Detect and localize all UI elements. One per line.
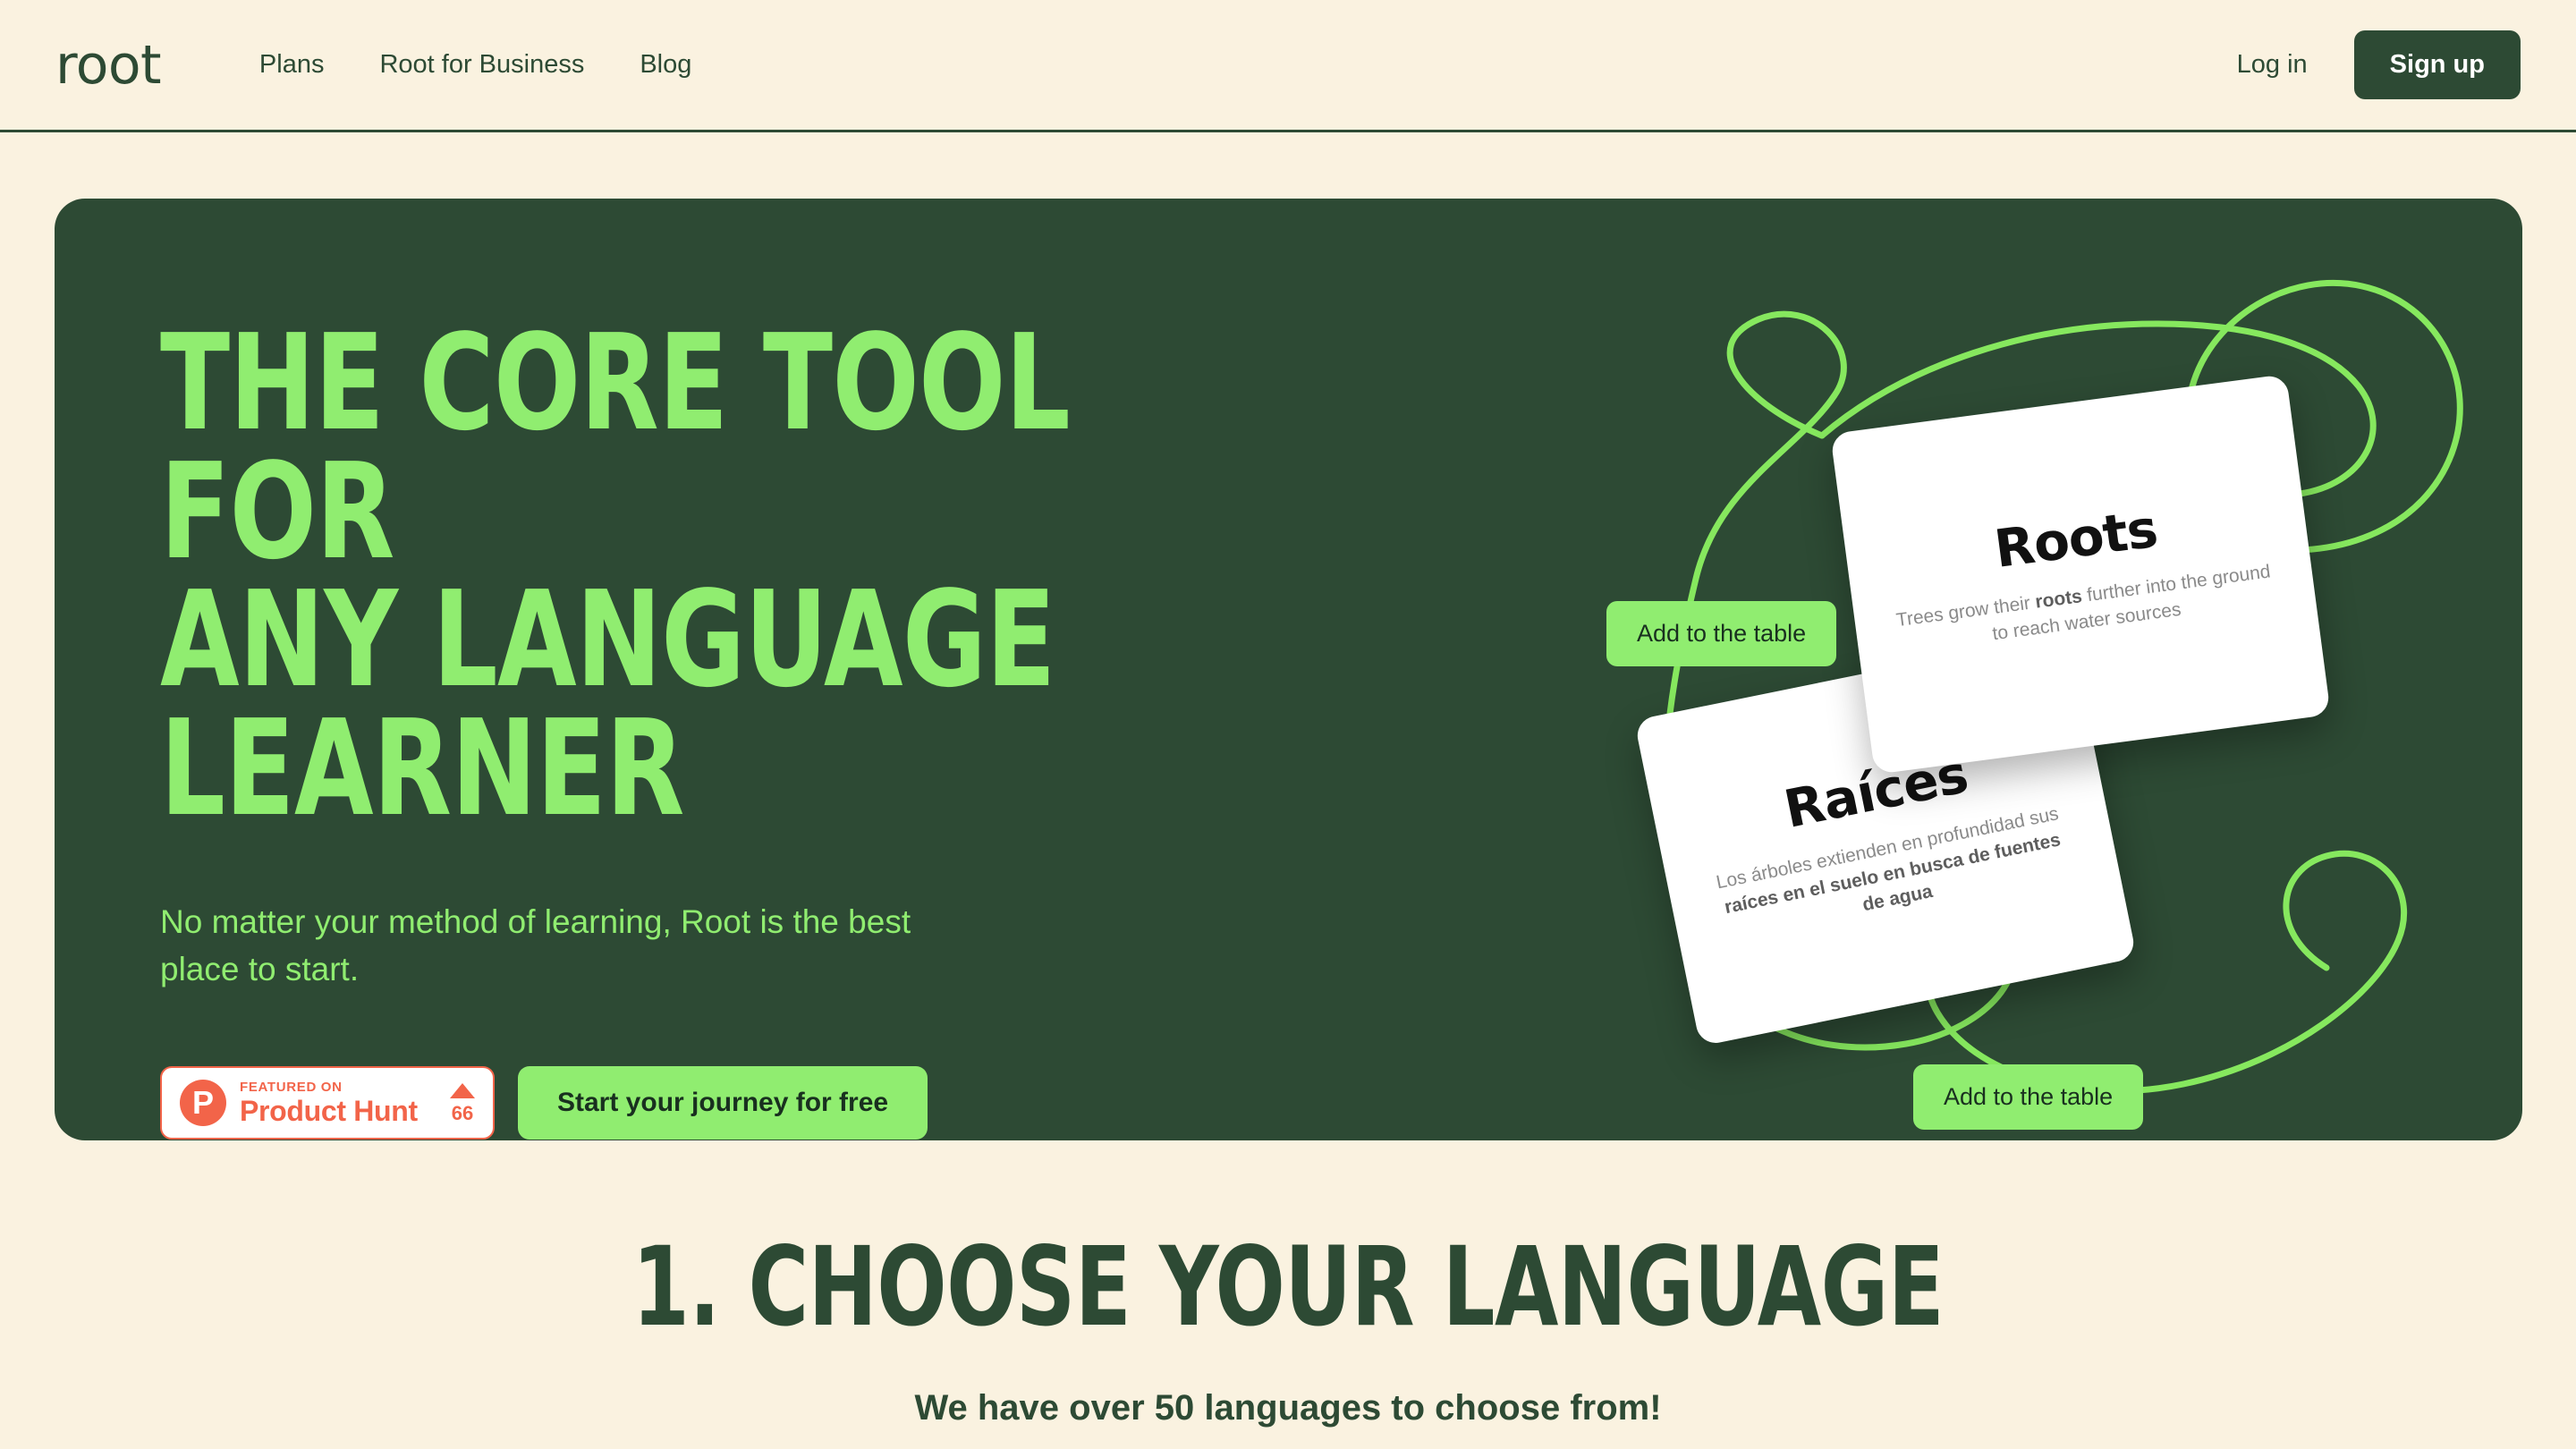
hero-headline: THE CORE TOOL FOR ANY LANGUAGE LEARNER xyxy=(160,319,1122,833)
flashcard-sentence: Los árboles extienden en profundidad sus… xyxy=(1705,800,2080,949)
add-to-table-button-bottom[interactable]: Add to the table xyxy=(1913,1064,2143,1130)
hero-subheadline: No matter your method of learning, Root … xyxy=(160,899,970,993)
hero-cta-row: P FEATURED ON Product Hunt 66 Start your… xyxy=(160,1066,1278,1140)
nav-item-blog[interactable]: Blog xyxy=(640,50,691,80)
flashcard-term: Roots xyxy=(1992,503,2160,575)
upvote-triangle-icon xyxy=(450,1083,475,1098)
product-hunt-featured-label: FEATURED ON xyxy=(240,1080,418,1094)
product-hunt-product-name: Product Hunt xyxy=(240,1097,418,1125)
primary-nav: Plans Root for Business Blog xyxy=(259,50,691,80)
start-journey-button[interactable]: Start your journey for free xyxy=(518,1066,928,1140)
hero-banner: THE CORE TOOL FOR ANY LANGUAGE LEARNER N… xyxy=(55,199,2522,1140)
flashcard-english[interactable]: Roots Trees grow their roots further int… xyxy=(1830,374,2331,775)
product-hunt-text: FEATURED ON Product Hunt xyxy=(240,1080,418,1125)
add-to-table-button-top[interactable]: Add to the table xyxy=(1606,601,1836,666)
product-hunt-badge[interactable]: P FEATURED ON Product Hunt 66 xyxy=(160,1066,495,1140)
header-actions: Log in Sign up xyxy=(2237,30,2521,99)
product-hunt-vote-count: 66 xyxy=(450,1104,475,1123)
flashcard-sentence-highlight: roots xyxy=(2034,586,2083,613)
site-header: root Plans Root for Business Blog Log in… xyxy=(0,0,2576,132)
hero-copy: THE CORE TOOL FOR ANY LANGUAGE LEARNER N… xyxy=(160,319,1278,1140)
section-1-title: 1. CHOOSE YOUR LANGUAGE xyxy=(206,1233,2369,1342)
section-1-subtitle: We have over 50 languages to choose from… xyxy=(0,1388,2576,1428)
signup-button[interactable]: Sign up xyxy=(2354,30,2521,99)
flashcard-sentence: Trees grow their roots further into the … xyxy=(1893,559,2277,660)
nav-item-root-for-business[interactable]: Root for Business xyxy=(379,50,584,80)
section-choose-language: 1. CHOOSE YOUR LANGUAGE We have over 50 … xyxy=(0,1233,2576,1428)
product-hunt-logo-icon: P xyxy=(180,1080,226,1126)
nav-item-plans[interactable]: Plans xyxy=(259,50,325,80)
hero-illustration: Roots Trees grow their roots further int… xyxy=(1611,225,2514,1120)
brand-logo[interactable]: root xyxy=(55,38,161,92)
product-hunt-vote[interactable]: 66 xyxy=(450,1083,475,1123)
login-link[interactable]: Log in xyxy=(2237,50,2308,80)
